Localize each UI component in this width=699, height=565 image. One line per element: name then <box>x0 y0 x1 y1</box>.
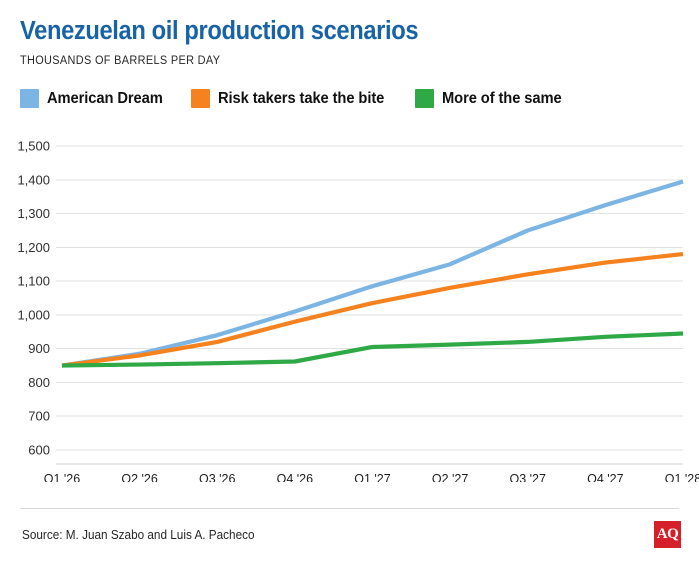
chart-header: Venezuelan oil production scenarios THOU… <box>20 18 685 67</box>
x-axis-tick-label: Q4 '27 <box>587 472 623 482</box>
footer-divider <box>20 508 679 509</box>
x-axis-tick-label: Q3 '26 <box>199 472 235 482</box>
y-axis-tick-label: 900 <box>28 341 50 356</box>
chart-footer: Source: M. Juan Szabo and Luis A. Pachec… <box>0 508 699 565</box>
x-axis-tick-label: Q1 '28 <box>665 472 699 482</box>
x-axis-tick-label: Q4 '26 <box>277 472 313 482</box>
y-axis-tick-label: 1,500 <box>17 139 50 154</box>
legend-item: Risk takers take the bite <box>191 89 393 108</box>
legend-swatch-icon <box>191 89 210 108</box>
chart-plot-area: 6007008009001,0001,1001,2001,3001,4001,5… <box>0 132 699 482</box>
y-axis-tick-label: 1,400 <box>17 172 50 187</box>
x-axis-tick-label: Q2 '27 <box>432 472 468 482</box>
x-axis-labels-group: Q1 '26Q2 '26Q3 '26Q4 '26Q1 '27Q2 '27Q3 '… <box>44 472 699 482</box>
x-axis-tick-label: Q1 '26 <box>44 472 80 482</box>
y-axis-tick-label: 700 <box>28 409 50 424</box>
y-axis-tick-label: 1,000 <box>17 307 50 322</box>
y-axis-tick-label: 800 <box>28 375 50 390</box>
source-note: Source: M. Juan Szabo and Luis A. Pachec… <box>22 528 255 542</box>
series-lines-group <box>62 181 683 365</box>
legend-item-label: More of the same <box>442 90 562 108</box>
legend-item-label: Risk takers take the bite <box>218 90 384 108</box>
y-axis-tick-label: 1,300 <box>17 206 50 221</box>
x-axis-tick-label: Q3 '27 <box>510 472 546 482</box>
chart-page: Venezuelan oil production scenarios THOU… <box>0 0 699 565</box>
x-axis-tick-label: Q2 '26 <box>121 472 157 482</box>
y-axis-tick-label: 600 <box>28 443 50 458</box>
chart-legend: American DreamRisk takers take the biteM… <box>20 89 568 108</box>
aq-logo: AQ <box>654 521 681 548</box>
legend-swatch-icon <box>20 89 39 108</box>
y-axis-labels-group: 6007008009001,0001,1001,2001,3001,4001,5… <box>17 139 50 458</box>
y-axis-tick-label: 1,200 <box>17 240 50 255</box>
legend-swatch-icon <box>415 89 434 108</box>
chart-subtitle: THOUSANDS OF BARRELS PER DAY <box>20 55 652 67</box>
page-title: Venezuelan oil production scenarios <box>20 18 638 45</box>
y-axis-tick-label: 1,100 <box>17 274 50 289</box>
legend-item-label: American Dream <box>47 90 163 108</box>
x-axis-tick-label: Q1 '27 <box>354 472 390 482</box>
line-chart-svg: 6007008009001,0001,1001,2001,3001,4001,5… <box>0 132 699 482</box>
legend-item: American Dream <box>20 89 169 108</box>
legend-item: More of the same <box>415 89 568 108</box>
